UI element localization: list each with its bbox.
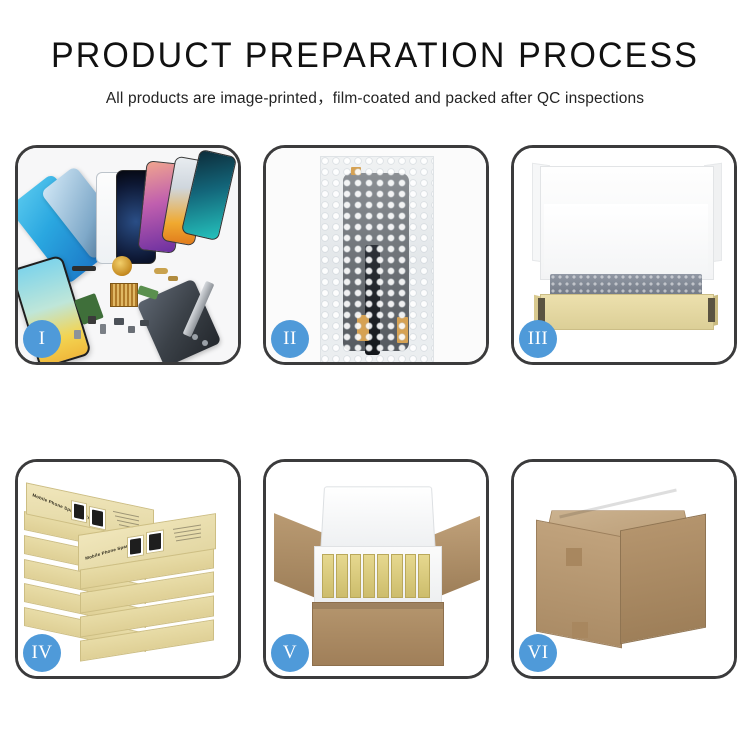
carton-right-face-icon (620, 514, 706, 645)
earpiece-speaker-icon (72, 266, 96, 271)
step-badge-6: VI (519, 634, 557, 672)
step-badge-3: III (519, 320, 557, 358)
step-badge-5: V (271, 634, 309, 672)
chip-board-icon (110, 283, 138, 307)
page-subtitle: All products are image-printed，film-coat… (0, 86, 750, 108)
process-step-panel-2[interactable]: II (263, 145, 489, 365)
yellow-boxes-inside-icon (322, 554, 430, 598)
yellow-box-base-icon (540, 294, 714, 330)
bubble-texture (321, 157, 433, 362)
carton-front-wall-icon (312, 602, 444, 666)
step-badge-4: IV (23, 634, 61, 672)
step-badge-1: I (23, 320, 61, 358)
process-step-panel-4[interactable]: Mobile Phone Spare Parts Mobile Phone Sp… (15, 459, 241, 679)
page-title: PRODUCT PREPARATION PROCESS (11, 38, 739, 73)
speaker-coil-icon (112, 256, 132, 276)
white-foam-liner-icon (544, 204, 708, 276)
bubble-wrap-bag-icon (320, 156, 434, 362)
page-root: PRODUCT PREPARATION PROCESS All products… (0, 0, 750, 750)
process-step-panel-5[interactable]: V (263, 459, 489, 679)
process-step-panel-6[interactable]: VI (511, 459, 737, 679)
process-step-panel-1[interactable]: I (15, 145, 241, 365)
process-grid: I II (15, 145, 737, 679)
header: PRODUCT PREPARATION PROCESS All products… (0, 0, 750, 108)
step-badge-2: II (271, 320, 309, 358)
process-step-panel-3[interactable]: III (511, 145, 737, 365)
